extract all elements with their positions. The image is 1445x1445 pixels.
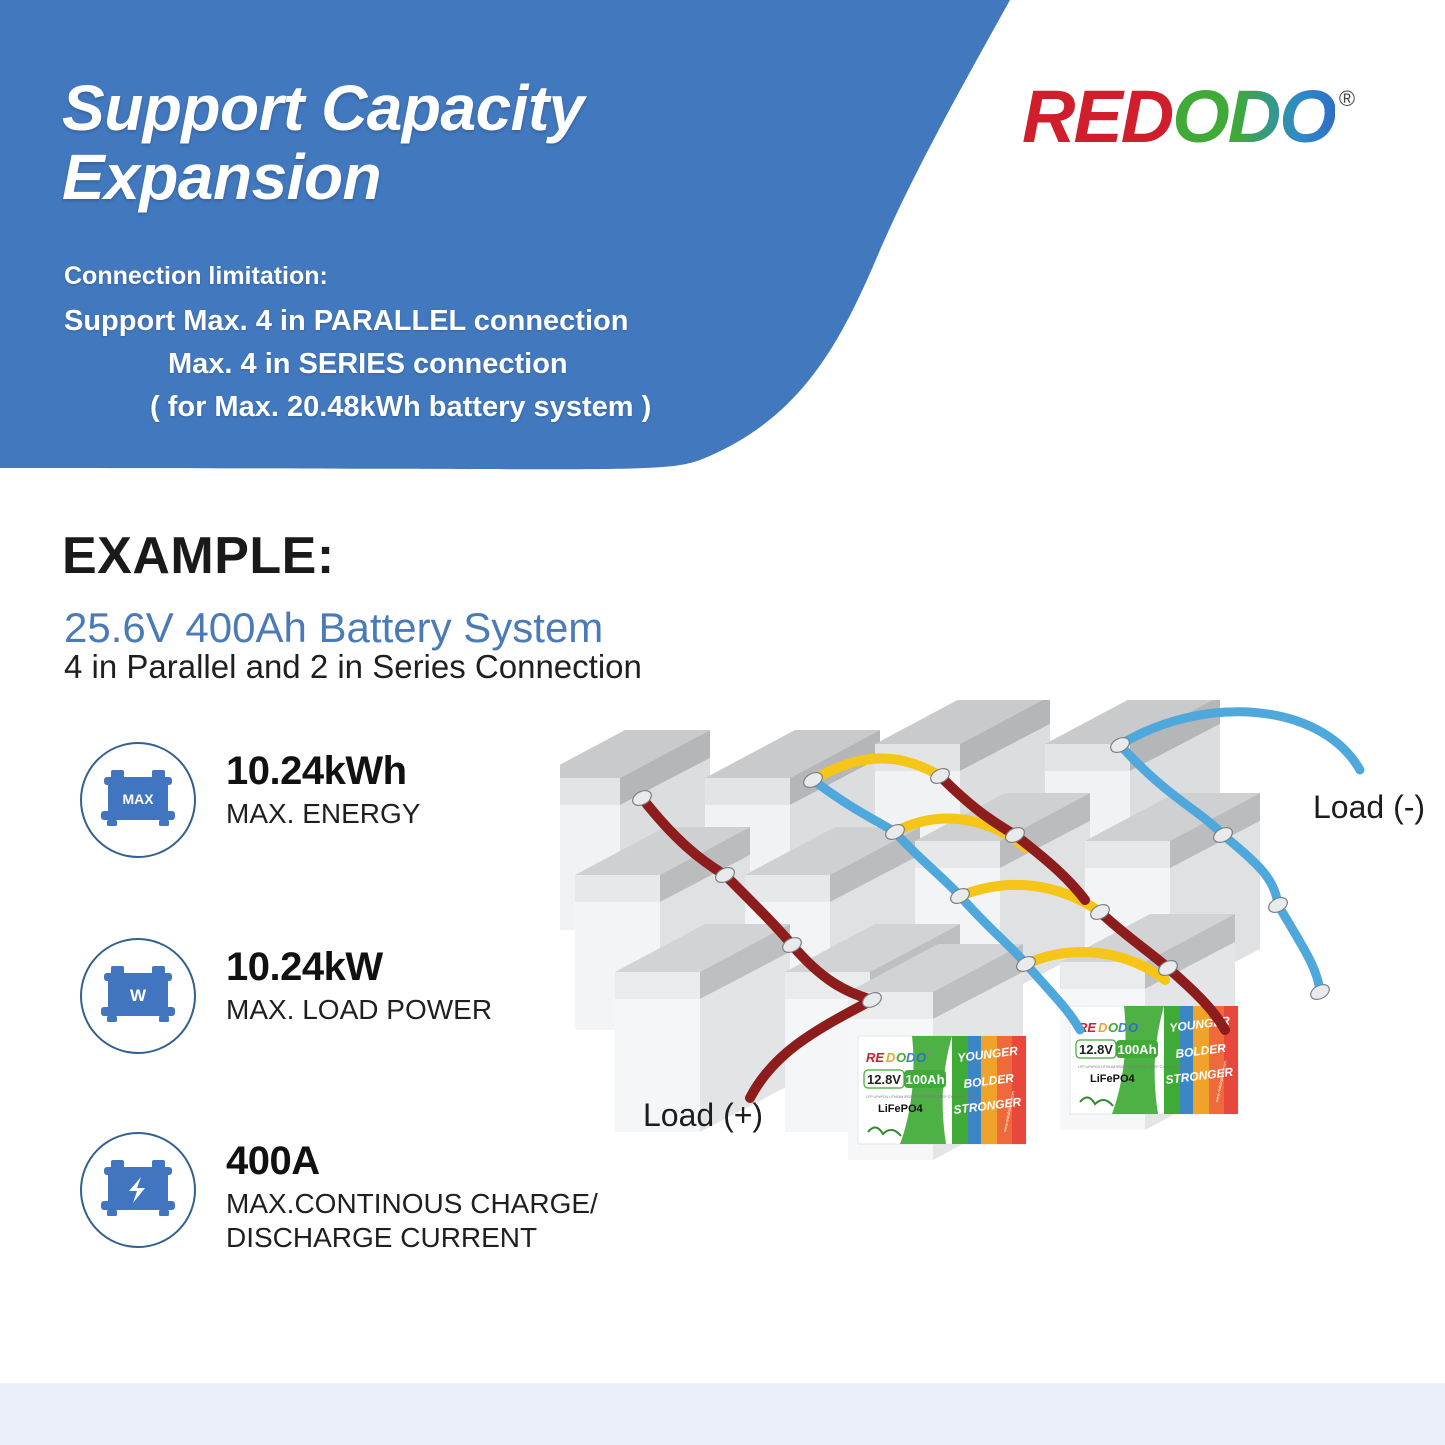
connection-line-parallel: Support Max. 4 in PARALLEL connection — [64, 305, 628, 338]
spec-icon-circle: MAX — [80, 742, 196, 858]
spec-icon-circle: W — [80, 938, 196, 1054]
svg-text:12.8V: 12.8V — [1079, 1042, 1113, 1057]
svg-text:O: O — [896, 1050, 906, 1065]
spec-row: MAX 10.24kWh MAX. ENERGY — [80, 742, 420, 858]
svg-text:®: ® — [1139, 1021, 1144, 1028]
connection-line-series: Max. 4 in SERIES connection — [168, 348, 568, 381]
spec-value: 10.24kW — [226, 946, 492, 988]
svg-text:LiFePO4: LiFePO4 — [878, 1103, 924, 1115]
brand-logo: REDODO ® — [1022, 80, 1355, 154]
spec-text: 10.24kWh MAX. ENERGY — [226, 742, 420, 831]
example-configuration: 4 in Parallel and 2 in Series Connection — [64, 648, 642, 686]
spec-text: 10.24kW MAX. LOAD POWER — [226, 938, 492, 1027]
svg-text:D: D — [1118, 1020, 1128, 1035]
page-title: Support Capacity Expansion — [62, 74, 822, 212]
brand-logo-odo: ODO — [1172, 75, 1335, 158]
spec-icon-circle — [80, 1132, 196, 1248]
svg-text:100Ah: 100Ah — [905, 1072, 944, 1087]
spec-label: MAX. LOAD POWER — [226, 993, 492, 1027]
example-system-title: 25.6V 400Ah Battery System — [64, 604, 603, 652]
page-title-line2: Expansion — [62, 143, 822, 212]
spec-value: 10.24kWh — [226, 750, 420, 792]
connection-limitation-label: Connection limitation: — [64, 262, 328, 291]
battery-watt-icon: W — [99, 962, 177, 1031]
example-heading: EXAMPLE: — [62, 526, 335, 586]
svg-text:O: O — [916, 1050, 926, 1065]
spec-label: MAX. ENERGY — [226, 797, 420, 831]
header-content: Support Capacity Expansion Connection li… — [0, 0, 900, 470]
svg-text:100Ah: 100Ah — [1117, 1042, 1156, 1057]
battery-label: RE D O D O ® 12.8V 100Ah LFP LiFePO4 LIT… — [858, 1036, 1026, 1144]
spec-label: MAX.CONTINOUS CHARGE/ DISCHARGE CURRENT — [226, 1187, 598, 1254]
svg-text:O: O — [1128, 1020, 1138, 1035]
svg-text:LFP LiFePO4 LITHIUM IRON PHOSP: LFP LiFePO4 LITHIUM IRON PHOSPHATE DEEP … — [1078, 1065, 1190, 1069]
svg-text:LiFePO4: LiFePO4 — [1090, 1073, 1136, 1085]
brand-logo-text: REDODO — [1022, 80, 1335, 154]
svg-text:D: D — [906, 1050, 916, 1065]
svg-text:D: D — [886, 1050, 896, 1065]
registered-trademark-icon: ® — [1339, 86, 1355, 112]
svg-text:MAX: MAX — [122, 791, 154, 807]
load-negative-label: Load (-) — [1313, 789, 1425, 826]
footer-band — [0, 1383, 1445, 1445]
connection-line-capacity: ( for Max. 20.48kWh battery system ) — [150, 391, 651, 424]
svg-text:W: W — [130, 986, 147, 1005]
battery-label: RE D O D O ® 12.8V 100Ah LFP LiFePO4 LIT… — [1070, 1006, 1238, 1114]
spec-text: 400A MAX.CONTINOUS CHARGE/ DISCHARGE CUR… — [226, 1132, 598, 1254]
load-positive-label: Load (+) — [643, 1097, 763, 1134]
battery-max-icon: MAX — [99, 766, 177, 835]
spec-row: W 10.24kW MAX. LOAD POWER — [80, 938, 492, 1054]
svg-text:D: D — [1098, 1020, 1108, 1035]
svg-text:LFP LiFePO4 LITHIUM IRON PHOSP: LFP LiFePO4 LITHIUM IRON PHOSPHATE DEEP … — [866, 1095, 978, 1099]
battery-bolt-icon — [99, 1156, 177, 1225]
battery-array-diagram: RE D O D O ® 12.8V 100Ah LFP LiFePO4 LIT… — [560, 700, 1440, 1260]
svg-text:RE: RE — [866, 1050, 884, 1065]
page-title-line1: Support Capacity — [62, 74, 822, 143]
spec-row: 400A MAX.CONTINOUS CHARGE/ DISCHARGE CUR… — [80, 1132, 598, 1254]
svg-text:12.8V: 12.8V — [867, 1072, 901, 1087]
svg-text:O: O — [1108, 1020, 1118, 1035]
spec-value: 400A — [226, 1140, 598, 1182]
brand-logo-red: RED — [1022, 75, 1172, 158]
svg-text:®: ® — [927, 1051, 932, 1058]
